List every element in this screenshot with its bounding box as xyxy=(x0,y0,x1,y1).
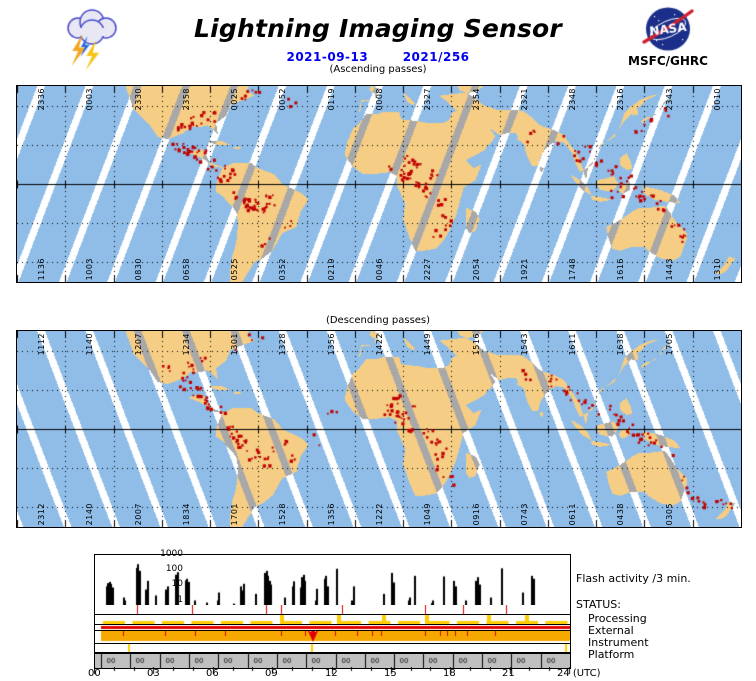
instrument-band xyxy=(95,625,570,630)
orbit-time-label: 2227 xyxy=(423,258,432,280)
x-tick-03: 03 xyxy=(147,668,160,679)
y-tick-10: 10 xyxy=(143,579,183,589)
orbit-time-label: 1328 xyxy=(278,333,287,355)
orbit-time-label: 0119 xyxy=(327,88,336,110)
orbit-time-label: 0052 xyxy=(278,88,287,110)
orbit-time-label: 1049 xyxy=(423,503,432,525)
orbit-time-label: 1921 xyxy=(520,258,529,280)
page-header: Lightning Imaging Sensor 2021-09-13 2021… xyxy=(0,0,756,78)
orbit-time-label: 1443 xyxy=(665,258,674,280)
x-tick-15: 15 xyxy=(384,668,397,679)
orbit-time-label: 1701 xyxy=(230,503,239,525)
x-tick-12: 12 xyxy=(325,668,338,679)
orbit-time-label: 1422 xyxy=(375,333,384,355)
spacer-band xyxy=(95,644,570,652)
x-tick-09: 09 xyxy=(265,668,278,679)
x-tick-24: 24 (UTC) xyxy=(557,668,601,679)
orbit-time-label: 2336 xyxy=(37,88,46,110)
activity-panel: 1000 100 10 1 00 03 06 09 12 15 18 21 24… xyxy=(0,546,756,680)
orbit-time-label: 0352 xyxy=(278,258,287,280)
x-tick-18: 18 xyxy=(443,668,456,679)
orbit-time-label: 0010 xyxy=(713,88,722,110)
status-row-spacer xyxy=(94,644,571,653)
nasa-meatball-icon xyxy=(634,6,702,53)
orbit-time-label: 1611 xyxy=(568,333,577,355)
external-band xyxy=(95,615,570,624)
orbit-time-label: 1003 xyxy=(85,258,94,280)
legend-status-title: STATUS: xyxy=(576,598,621,611)
status-row-platform xyxy=(94,631,571,644)
orbit-time-label: 1516 xyxy=(472,333,481,355)
orbit-time-label: 2343 xyxy=(665,88,674,110)
orbit-time-label: 1616 xyxy=(616,258,625,280)
orbit-time-label: 0658 xyxy=(182,258,191,280)
orbit-time-label: 0916 xyxy=(472,503,481,525)
x-tick-21: 21 xyxy=(502,668,515,679)
orbit-time-label: 2054 xyxy=(472,258,481,280)
processing-band xyxy=(95,605,570,614)
orbit-time-label: 1705 xyxy=(665,333,674,355)
orbit-time-label: 1356 xyxy=(327,333,336,355)
legend-flash-activity: Flash activity /3 min. xyxy=(576,572,691,585)
status-row-processing xyxy=(94,605,571,615)
orbit-time-label: 1356 xyxy=(327,503,336,525)
orbit-time-label: 2321 xyxy=(520,88,529,110)
orbit-time-label: 0025 xyxy=(230,88,239,110)
orbit-time-label: 1140 xyxy=(85,333,94,355)
orbit-time-label: 1222 xyxy=(375,503,384,525)
orbit-time-label: 0438 xyxy=(616,503,625,525)
orbit-time-label: 1748 xyxy=(568,258,577,280)
orbit-time-label: 1543 xyxy=(520,333,529,355)
orbit-time-label: 0525 xyxy=(230,258,239,280)
orbit-time-label: 2316 xyxy=(616,88,625,110)
orbit-time-label: 2354 xyxy=(472,88,481,110)
descending-map-canvas xyxy=(17,331,741,527)
orbit-time-label: 2330 xyxy=(134,88,143,110)
orbit-time-label: 0611 xyxy=(568,503,577,525)
orbit-time-label: 2007 xyxy=(134,503,143,525)
ascending-passes-map: 2336000323302358002500520119000823272354… xyxy=(16,85,742,283)
orbit-time-label: 1234 xyxy=(182,333,191,355)
date-day-of-year: 2021/256 xyxy=(403,50,470,64)
date-iso: 2021-09-13 xyxy=(286,50,368,64)
ascending-map-canvas xyxy=(17,86,741,282)
orbit-time-label: 1834 xyxy=(182,503,191,525)
orbit-time-label: 1638 xyxy=(616,333,625,355)
orbit-time-label: 0743 xyxy=(520,503,529,525)
platform-band xyxy=(95,631,570,643)
orbit-time-label: 1528 xyxy=(278,503,287,525)
x-tick-00: 00 xyxy=(88,668,101,679)
nasa-center-caption: MSFC/GHRC xyxy=(608,54,728,68)
orbit-time-label: 0003 xyxy=(85,88,94,110)
orbit-time-label: 1301 xyxy=(230,333,239,355)
y-tick-100: 100 xyxy=(143,564,183,574)
orbit-time-label: 2348 xyxy=(568,88,577,110)
orbit-time-label: 1207 xyxy=(134,333,143,355)
orbit-time-label: 2327 xyxy=(423,88,432,110)
orbit-time-label: 2358 xyxy=(182,88,191,110)
legend-platform: Platform xyxy=(588,648,634,661)
orbit-time-label: 0830 xyxy=(134,258,143,280)
status-row-external xyxy=(94,615,571,625)
descending-caption: (Descending passes) xyxy=(0,315,756,326)
orbit-time-label: 0219 xyxy=(327,258,336,280)
orbit-time-label: 0046 xyxy=(375,258,384,280)
orbit-time-label: 2140 xyxy=(85,503,94,525)
orbit-time-label: 1136 xyxy=(37,258,46,280)
orbit-time-label: 1310 xyxy=(713,258,722,280)
orbit-tick-canvas xyxy=(95,654,570,668)
x-tick-06: 06 xyxy=(206,668,219,679)
descending-passes-map: 1112114012071234130113281356142214491516… xyxy=(16,330,742,528)
orbit-time-label: 0305 xyxy=(665,503,674,525)
y-tick-1000: 1000 xyxy=(143,549,183,559)
orbit-time-label: 1112 xyxy=(37,333,46,355)
y-tick-1: 1 xyxy=(143,595,183,605)
orbit-time-label: 2312 xyxy=(37,503,46,525)
orbit-time-label: 0008 xyxy=(375,88,384,110)
orbit-time-label: 1449 xyxy=(423,333,432,355)
